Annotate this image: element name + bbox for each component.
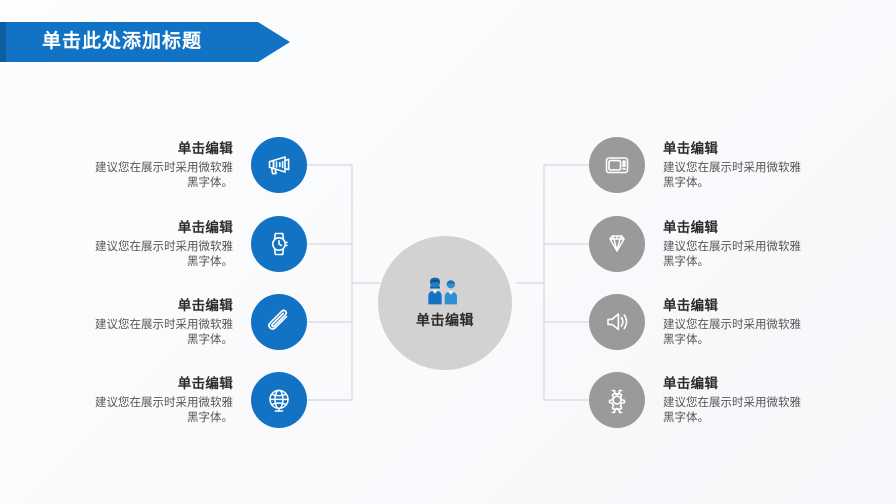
- node-left-3-text: 单击编辑 建议您在展示时采用微软雅黑字体。: [93, 297, 233, 348]
- node-left-3[interactable]: 单击编辑 建议您在展示时采用微软雅黑字体。: [78, 291, 307, 353]
- megaphone-icon: [263, 149, 295, 181]
- node-left-2-desc: 建议您在展示时采用微软雅黑字体。: [93, 240, 233, 270]
- node-right-1-title: 单击编辑: [663, 140, 718, 158]
- node-left-3-title: 单击编辑: [178, 297, 233, 315]
- node-right-3-desc: 建议您在展示时采用微软雅黑字体。: [663, 318, 803, 348]
- center-hub[interactable]: 单击编辑: [378, 236, 512, 370]
- speaker-icon: [601, 306, 633, 338]
- node-left-3-desc: 建议您在展示时采用微软雅黑字体。: [93, 318, 233, 348]
- page-title: 单击此处添加标题: [42, 22, 202, 62]
- node-right-1-desc: 建议您在展示时采用微软雅黑字体。: [663, 161, 803, 191]
- node-right-3-title: 单击编辑: [663, 297, 718, 315]
- node-right-4-text: 单击编辑 建议您在展示时采用微软雅黑字体。: [663, 375, 803, 426]
- node-left-2-text: 单击编辑 建议您在展示时采用微软雅黑字体。: [93, 219, 233, 270]
- node-right-4[interactable]: 单击编辑 建议您在展示时采用微软雅黑字体。: [589, 369, 818, 431]
- node-right-1-circle[interactable]: [589, 137, 645, 193]
- wristwatch-icon: [263, 228, 295, 260]
- node-right-3-text: 单击编辑 建议您在展示时采用微软雅黑字体。: [663, 297, 803, 348]
- node-right-1[interactable]: 单击编辑 建议您在展示时采用微软雅黑字体。: [589, 134, 818, 196]
- globe-icon: [263, 384, 295, 416]
- diamond-icon: [601, 228, 633, 260]
- node-right-2-title: 单击编辑: [663, 219, 718, 237]
- node-right-2[interactable]: 单击编辑 建议您在展示时采用微软雅黑字体。: [589, 213, 818, 275]
- node-left-2-title: 单击编辑: [178, 219, 233, 237]
- node-right-2-text: 单击编辑 建议您在展示时采用微软雅黑字体。: [663, 219, 803, 270]
- node-right-4-desc: 建议您在展示时采用微软雅黑字体。: [663, 396, 803, 426]
- node-left-4-desc: 建议您在展示时采用微软雅黑字体。: [93, 396, 233, 426]
- node-right-4-title: 单击编辑: [663, 375, 718, 393]
- node-left-4[interactable]: 单击编辑 建议您在展示时采用微软雅黑字体。: [78, 369, 307, 431]
- node-left-2-circle[interactable]: [251, 216, 307, 272]
- television-icon: [601, 149, 633, 181]
- two-people-icon: [425, 276, 465, 306]
- node-left-1-circle[interactable]: [251, 137, 307, 193]
- node-left-4-circle[interactable]: [251, 372, 307, 428]
- node-left-2[interactable]: 单击编辑 建议您在展示时采用微软雅黑字体。: [78, 213, 307, 275]
- node-left-4-title: 单击编辑: [178, 375, 233, 393]
- node-right-3-circle[interactable]: [589, 294, 645, 350]
- title-banner[interactable]: 单击此处添加标题: [0, 22, 290, 62]
- node-left-1[interactable]: 单击编辑 建议您在展示时采用微软雅黑字体。: [78, 134, 307, 196]
- title-banner-left-edge: [0, 22, 6, 62]
- node-right-3[interactable]: 单击编辑 建议您在展示时采用微软雅黑字体。: [589, 291, 818, 353]
- hub-label: 单击编辑: [416, 310, 474, 330]
- paperclip-icon: [263, 306, 295, 338]
- node-left-1-title: 单击编辑: [178, 140, 233, 158]
- node-right-1-text: 单击编辑 建议您在展示时采用微软雅黑字体。: [663, 140, 803, 191]
- node-left-4-text: 单击编辑 建议您在展示时采用微软雅黑字体。: [93, 375, 233, 426]
- node-left-3-circle[interactable]: [251, 294, 307, 350]
- node-right-4-circle[interactable]: [589, 372, 645, 428]
- node-left-1-desc: 建议您在展示时采用微软雅黑字体。: [93, 161, 233, 191]
- slide-canvas: 单击此处添加标题: [0, 0, 896, 504]
- node-left-1-text: 单击编辑 建议您在展示时采用微软雅黑字体。: [93, 140, 233, 191]
- gear-icon: [601, 384, 633, 416]
- node-right-2-circle[interactable]: [589, 216, 645, 272]
- node-right-2-desc: 建议您在展示时采用微软雅黑字体。: [663, 240, 803, 270]
